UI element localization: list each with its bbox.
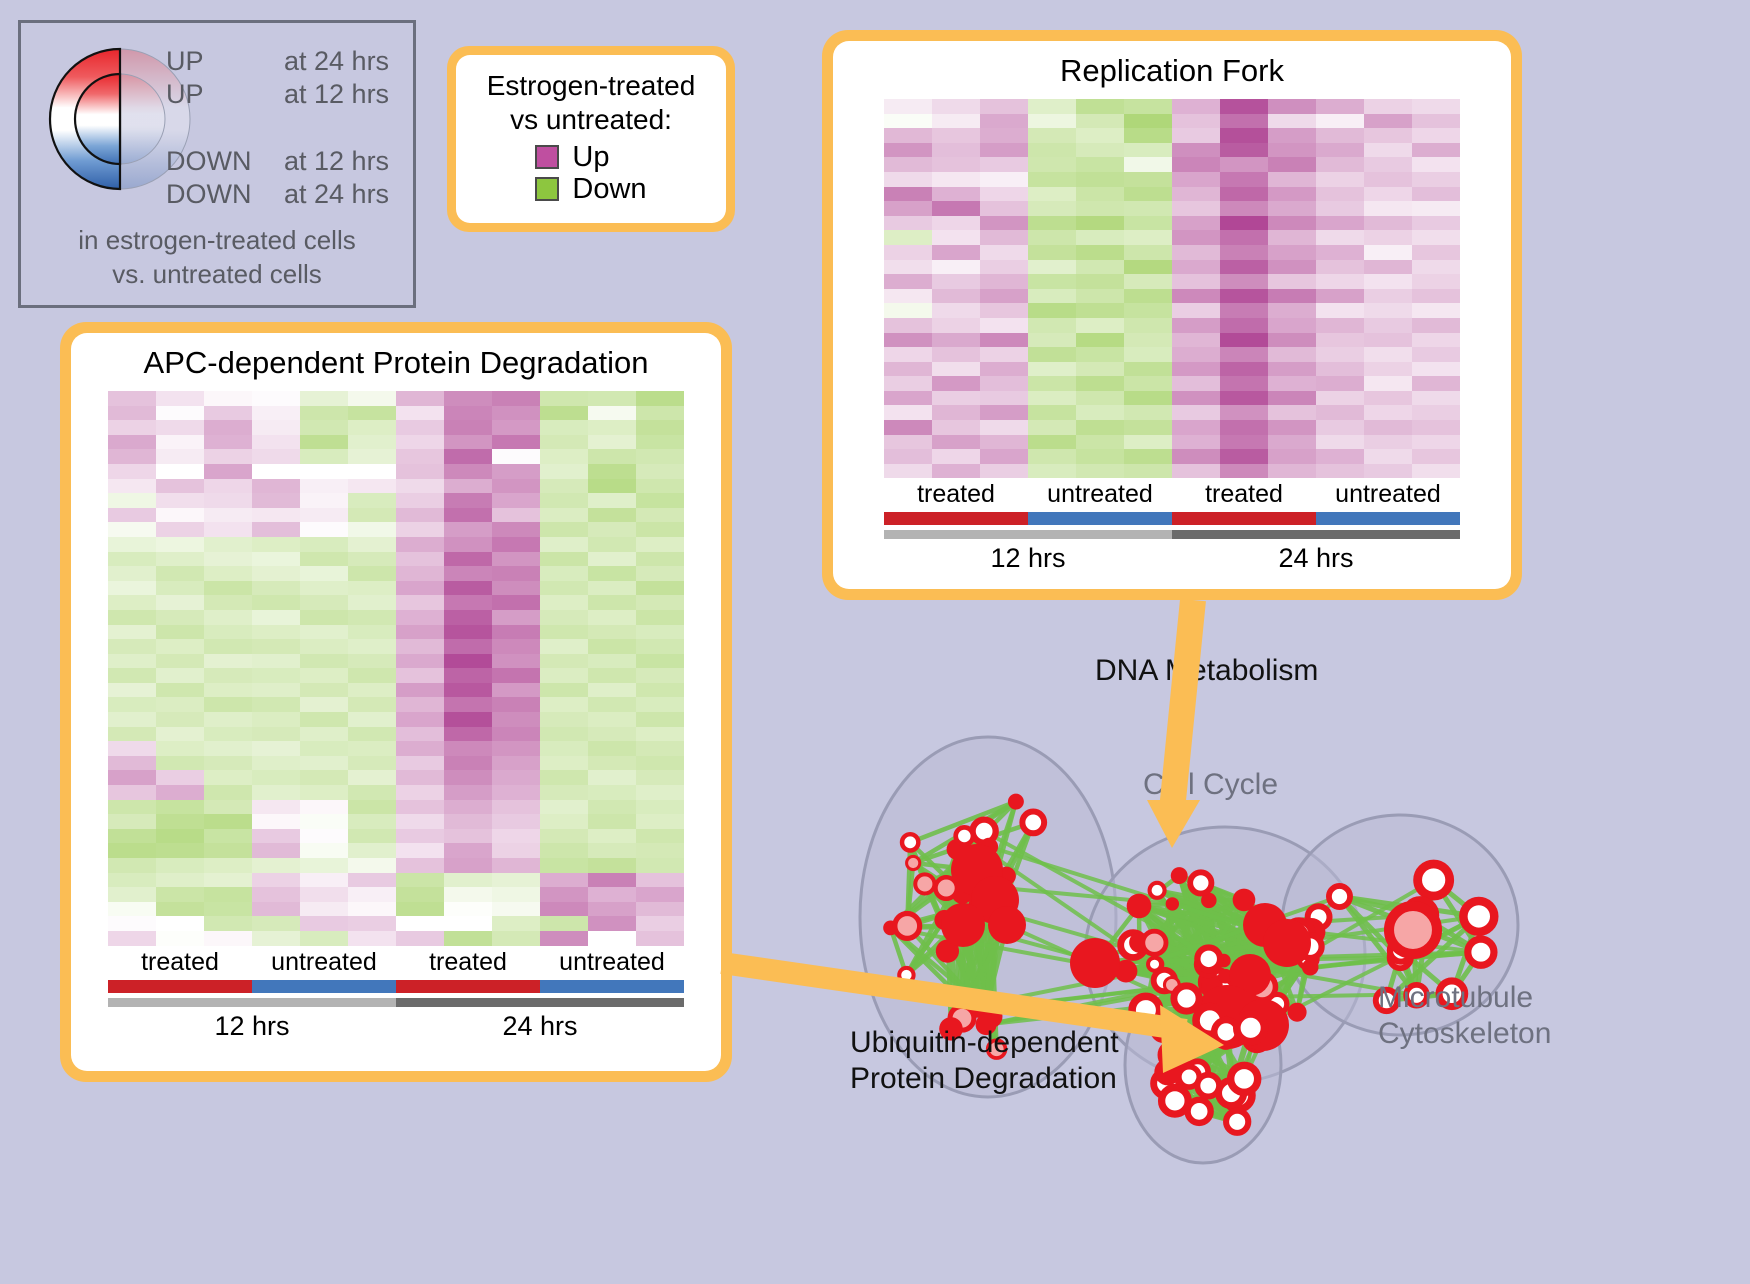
heatmap-cell (252, 581, 300, 596)
heatmap-cell (1412, 289, 1460, 304)
heatmap-cell (156, 829, 204, 844)
heatmap-cell (156, 625, 204, 640)
heatmap-cell (444, 683, 492, 698)
heatmap-cell (1220, 405, 1268, 420)
heatmap-cell (540, 435, 588, 450)
heatmap-cell (1220, 318, 1268, 333)
heatmap-cell (396, 391, 444, 406)
heatmap-cell (1364, 201, 1412, 216)
heatmap-cell (444, 668, 492, 683)
condition-label: untreated (1028, 478, 1172, 510)
heatmap-cell (636, 566, 684, 581)
heatmap-cell (1412, 245, 1460, 260)
heatmap-cell (1412, 420, 1460, 435)
heatmap-cell (1316, 245, 1364, 260)
heatmap-cell (1220, 143, 1268, 158)
heatmap-cell (204, 858, 252, 873)
heatmap-cell (204, 435, 252, 450)
heatmap-cell (540, 814, 588, 829)
heatmap-cell (492, 858, 540, 873)
heatmap-cell (1172, 449, 1220, 464)
heatmap-cell (348, 785, 396, 800)
heatmap-cell (1172, 172, 1220, 187)
heatmap-cell (1316, 289, 1364, 304)
heatmap-cell (1028, 362, 1076, 377)
heatmap-cell (1316, 464, 1364, 479)
heatmap-cell (300, 654, 348, 669)
ring-label-direction: UP (166, 78, 284, 111)
heatmap-cell (932, 435, 980, 450)
heatmap-cell (300, 843, 348, 858)
heatmap-cell (204, 785, 252, 800)
heatmap-cell (348, 756, 396, 771)
network-node (1197, 947, 1220, 970)
heatmap-cell (588, 522, 636, 537)
heatmap-cell (540, 873, 588, 888)
heatmap-cell (1220, 245, 1268, 260)
heatmap-cell (492, 873, 540, 888)
heatmap-cell (1028, 99, 1076, 114)
estrogen-key-box: Estrogen-treated vs untreated: Up Down (447, 46, 735, 232)
heatmap-cell (540, 420, 588, 435)
heatmap-cell (1220, 172, 1268, 187)
ring-label-spacer (166, 111, 416, 145)
heatmap-cell (588, 873, 636, 888)
heatmap-cell (540, 581, 588, 596)
heatmap-cell (1412, 230, 1460, 245)
heatmap-cell (252, 639, 300, 654)
heatmap-cell (540, 785, 588, 800)
heatmap-cell (1076, 230, 1124, 245)
heatmap-cell (540, 508, 588, 523)
heatmap-cell (588, 391, 636, 406)
heatmap-cell (348, 435, 396, 450)
heatmap-cell (348, 449, 396, 464)
network-svg (795, 625, 1750, 1279)
heatmap-cell (396, 843, 444, 858)
heatmap-cell (348, 537, 396, 552)
heatmap-cell (1028, 274, 1076, 289)
heatmap-cell (1268, 376, 1316, 391)
heatmap-cell (204, 668, 252, 683)
ring-legend-footer-line2: vs. untreated cells (21, 257, 413, 291)
heatmap-cell (1028, 157, 1076, 172)
heatmap-cell (156, 931, 204, 946)
heatmap-cell (444, 581, 492, 596)
heatmap-cell (1364, 260, 1412, 275)
heatmap-cell (1316, 303, 1364, 318)
heatmap-cell (1268, 260, 1316, 275)
heatmap-cell (1076, 187, 1124, 202)
heatmap-cell (1172, 274, 1220, 289)
heatmap-cell (636, 931, 684, 946)
heatmap-cell (300, 916, 348, 931)
heatmap-cell (204, 873, 252, 888)
ring-legend-labels: UP at 24 hrs UP at 12 hrs DOWN at 12 hrs… (166, 45, 416, 211)
heatmap-cell (980, 216, 1028, 231)
heatmap-cell (300, 639, 348, 654)
heatmap-cell (300, 493, 348, 508)
heatmap-cell (884, 230, 932, 245)
heatmap-cell (1268, 303, 1316, 318)
heatmap-cell (588, 770, 636, 785)
ring-label-time: at 12 hrs (284, 78, 389, 111)
heatmap-cell (252, 493, 300, 508)
heatmap-cell (492, 800, 540, 815)
heatmap-cell (444, 785, 492, 800)
time-color-bar (884, 530, 1460, 539)
condition-label: treated (396, 946, 540, 978)
heatmap-cell (1028, 464, 1076, 479)
heatmap-cell (252, 697, 300, 712)
heatmap-cell (252, 668, 300, 683)
heatmap-cell (588, 697, 636, 712)
heatmap-cell (204, 610, 252, 625)
heatmap-cell (884, 274, 932, 289)
heatmap-cell (1076, 449, 1124, 464)
network-node (1070, 938, 1120, 988)
heatmap-cell (588, 610, 636, 625)
heatmap-cell (348, 668, 396, 683)
heatmap-cell (636, 741, 684, 756)
heatmap-cell (1316, 230, 1364, 245)
heatmap-cell (252, 449, 300, 464)
heatmap-cell (980, 318, 1028, 333)
ring-legend-footer: in estrogen-treated cells vs. untreated … (21, 223, 413, 291)
heatmap-cell (204, 581, 252, 596)
heatmap-cell (1364, 318, 1412, 333)
heatmap-cell (156, 843, 204, 858)
heatmap-cell (300, 552, 348, 567)
heatmap-cell (1124, 274, 1172, 289)
heatmap-cell (492, 464, 540, 479)
heatmap-cell (204, 406, 252, 421)
heatmap-cell (636, 683, 684, 698)
heatmap-cell (540, 770, 588, 785)
heatmap-cell (884, 172, 932, 187)
heatmap-cell (108, 727, 156, 742)
heatmap-cell (1268, 114, 1316, 129)
heatmap-cell (1364, 143, 1412, 158)
heatmap-cell (300, 595, 348, 610)
heatmap-cell (252, 770, 300, 785)
heatmap-cell (1124, 143, 1172, 158)
heatmap-cell (492, 639, 540, 654)
network-node (1143, 931, 1166, 954)
condition-labels: treated untreated treated untreated (884, 478, 1460, 510)
heatmap-cell (884, 391, 932, 406)
ring-label-time: at 24 hrs (284, 178, 389, 211)
heatmap-cell (1220, 201, 1268, 216)
heatmap-cell (444, 770, 492, 785)
heatmap-cell (396, 406, 444, 421)
heatmap-cell (444, 697, 492, 712)
heatmap-cell (444, 931, 492, 946)
heatmap-cell (396, 756, 444, 771)
heatmap-cell (204, 902, 252, 917)
heatmap-cell (1124, 260, 1172, 275)
heatmap-cell (444, 508, 492, 523)
heatmap-cell (1220, 289, 1268, 304)
heatmap-cell (396, 479, 444, 494)
heatmap-cell (156, 522, 204, 537)
heatmap-cell (300, 873, 348, 888)
heatmap-cell (1220, 347, 1268, 362)
heatmap-cell (444, 814, 492, 829)
heatmap-cell (980, 303, 1028, 318)
heatmap-cell (1364, 187, 1412, 202)
heatmap-cell (444, 873, 492, 888)
heatmap-cell (252, 464, 300, 479)
heatmap-cell (1364, 347, 1412, 362)
heatmap-cell (884, 435, 932, 450)
heatmap-cell (300, 420, 348, 435)
heatmap-cell (588, 435, 636, 450)
heatmap-cell (492, 595, 540, 610)
heatmap-cell (1076, 376, 1124, 391)
heatmap-cell (252, 508, 300, 523)
network-node (1468, 939, 1494, 965)
heatmap-cell (1316, 347, 1364, 362)
heatmap-cell (1316, 187, 1364, 202)
heatmap-cell (1268, 449, 1316, 464)
heatmap-cell (1076, 318, 1124, 333)
sample-annotation-apc: treated untreated treated untreated 12 h… (108, 946, 684, 1045)
heatmap-cell (252, 625, 300, 640)
heatmap-cell (1412, 318, 1460, 333)
heatmap-cell (884, 128, 932, 143)
heatmap-cell (204, 843, 252, 858)
heatmap-cell (252, 887, 300, 902)
heatmap-cell (540, 595, 588, 610)
heatmap-cell (1028, 391, 1076, 406)
heatmap-cell (108, 552, 156, 567)
heatmap-cell (300, 931, 348, 946)
heatmap-cell (932, 289, 980, 304)
heatmap-cell (932, 260, 980, 275)
heatmap-cell (932, 274, 980, 289)
heatmap-cell (932, 333, 980, 348)
heatmap-cell (204, 756, 252, 771)
heatmap-cell (492, 420, 540, 435)
heatmap-cell (588, 931, 636, 946)
heatmap-cell (348, 464, 396, 479)
ring-row-up-12: UP at 12 hrs (166, 78, 416, 111)
heatmap-cell (980, 99, 1028, 114)
heatmap-cell (204, 552, 252, 567)
heatmap-cell (1268, 143, 1316, 158)
heatmap-cell (1316, 420, 1364, 435)
heatmap-cell (348, 508, 396, 523)
heatmap-cell (1316, 172, 1364, 187)
heatmap-cell (108, 464, 156, 479)
heatmap-cell (636, 479, 684, 494)
heatmap-cell (444, 902, 492, 917)
heatmap-cell (1028, 435, 1076, 450)
heatmap-cell (1076, 464, 1124, 479)
heatmap-cell (204, 814, 252, 829)
heatmap-cell (1076, 157, 1124, 172)
heatmap-cell (540, 800, 588, 815)
heatmap-cell (588, 595, 636, 610)
heatmap-cell (492, 683, 540, 698)
heatmap-cell (884, 187, 932, 202)
estrogen-key-title-line1: Estrogen-treated (487, 69, 696, 103)
ring-row-down-12: DOWN at 12 hrs (166, 145, 416, 178)
heatmap-cell (1124, 420, 1172, 435)
heatmap-cell (1028, 376, 1076, 391)
network-node (1389, 906, 1437, 954)
heatmap-cell (980, 245, 1028, 260)
heatmap-cell (396, 449, 444, 464)
heatmap-cell (108, 391, 156, 406)
heatmap-cell (1364, 333, 1412, 348)
heatmap-cell (1364, 289, 1412, 304)
heatmap-cell (396, 654, 444, 669)
heatmap-cell (980, 333, 1028, 348)
heatmap-cell (932, 128, 980, 143)
panel-title: Replication Fork (1060, 53, 1284, 89)
heatmap-cell (588, 858, 636, 873)
heatmap-cell (108, 435, 156, 450)
heatmap-cell (300, 522, 348, 537)
heatmap-cell (980, 464, 1028, 479)
heatmap-cell (1124, 114, 1172, 129)
heatmap-cell (348, 829, 396, 844)
heatmap-cell (980, 230, 1028, 245)
heatmap-cell (588, 449, 636, 464)
heatmap-cell (636, 800, 684, 815)
heatmap-cell (636, 639, 684, 654)
heatmap-cell (588, 727, 636, 742)
heatmap-cell (636, 887, 684, 902)
heatmap-cell (1268, 318, 1316, 333)
heatmap-cell (444, 639, 492, 654)
heatmap-cell (444, 449, 492, 464)
heatmap-cell (156, 493, 204, 508)
heatmap-cell (108, 931, 156, 946)
heatmap-cell (540, 668, 588, 683)
heatmap-cell (348, 493, 396, 508)
heatmap-cell (492, 697, 540, 712)
heatmap-cell (540, 449, 588, 464)
heatmap-cell (588, 814, 636, 829)
heatmap-cell (300, 756, 348, 771)
heatmap-cell (204, 654, 252, 669)
heatmap-cell (444, 858, 492, 873)
heatmap-cell (980, 362, 1028, 377)
heatmap-cell (1412, 143, 1460, 158)
heatmap-cell (300, 887, 348, 902)
heatmap-cell (1268, 362, 1316, 377)
heatmap-cell (1172, 201, 1220, 216)
heatmap-cell (636, 727, 684, 742)
heatmap-cell (980, 260, 1028, 275)
heatmap-cell (884, 347, 932, 362)
heatmap-cell (252, 873, 300, 888)
heatmap-cell (156, 741, 204, 756)
network-node (907, 856, 920, 869)
network-node (1162, 1088, 1189, 1115)
heatmap-cell (1028, 143, 1076, 158)
heatmap-cell (1268, 187, 1316, 202)
heatmap-cell (1172, 143, 1220, 158)
heatmap-cell (108, 537, 156, 552)
heatmap-cell (108, 595, 156, 610)
heatmap-cell (1412, 376, 1460, 391)
heatmap-cell (204, 493, 252, 508)
heatmap-cell (108, 625, 156, 640)
heatmap-cell (1220, 99, 1268, 114)
heatmap-cell (932, 347, 980, 362)
heatmap-cell (1028, 245, 1076, 260)
heatmap-cell (1364, 420, 1412, 435)
heatmap-cell (1268, 289, 1316, 304)
heatmap-cell (348, 902, 396, 917)
heatmap-cell (1172, 405, 1220, 420)
heatmap-cell (156, 654, 204, 669)
heatmap-cell (300, 406, 348, 421)
heatmap-cell (444, 391, 492, 406)
heatmap-cell (300, 697, 348, 712)
heatmap-cell (300, 464, 348, 479)
heatmap-cell (1124, 245, 1172, 260)
cluster-label-ubiquitin-degradation: Ubiquitin-dependent Protein Degradation (850, 1025, 1119, 1097)
heatmap-cell (540, 683, 588, 698)
heatmap-cell (1172, 464, 1220, 479)
heatmap-cell (396, 785, 444, 800)
heatmap-cell (204, 595, 252, 610)
heatmap-cell (1316, 435, 1364, 450)
heatmap-cell (396, 683, 444, 698)
heatmap-cell (1124, 435, 1172, 450)
heatmap-cell (396, 610, 444, 625)
time-labels: 12 hrs 24 hrs (108, 1007, 684, 1045)
heatmap-cell (1076, 216, 1124, 231)
heatmap-cell (1028, 318, 1076, 333)
heatmap-cell (204, 464, 252, 479)
heatmap-cell (1316, 274, 1364, 289)
heatmap-cell (444, 610, 492, 625)
heatmap-cell (884, 449, 932, 464)
heatmap-cell (1268, 464, 1316, 479)
heatmap-cell (884, 289, 932, 304)
heatmap-cell (396, 916, 444, 931)
heatmap-cell (156, 712, 204, 727)
heatmap-cell (252, 610, 300, 625)
heatmap-cell (1364, 449, 1412, 464)
heatmap-cell (492, 916, 540, 931)
heatmap-cell (932, 464, 980, 479)
heatmap-cell (156, 902, 204, 917)
heatmap-cell (156, 552, 204, 567)
heatmap-cell (588, 464, 636, 479)
heatmap-cell (636, 522, 684, 537)
heatmap-cell (156, 566, 204, 581)
heatmap-cell (108, 785, 156, 800)
heatmap-cell (1220, 216, 1268, 231)
heatmap-cell (1268, 172, 1316, 187)
heatmap-cell (1172, 347, 1220, 362)
network-node (1418, 864, 1450, 896)
heatmap-cell (588, 843, 636, 858)
heatmap-cell (540, 537, 588, 552)
heatmap-cell (1316, 260, 1364, 275)
heatmap-cell (492, 566, 540, 581)
heatmap-cell (980, 274, 1028, 289)
heatmap-cell (396, 464, 444, 479)
heatmap-cell (108, 814, 156, 829)
